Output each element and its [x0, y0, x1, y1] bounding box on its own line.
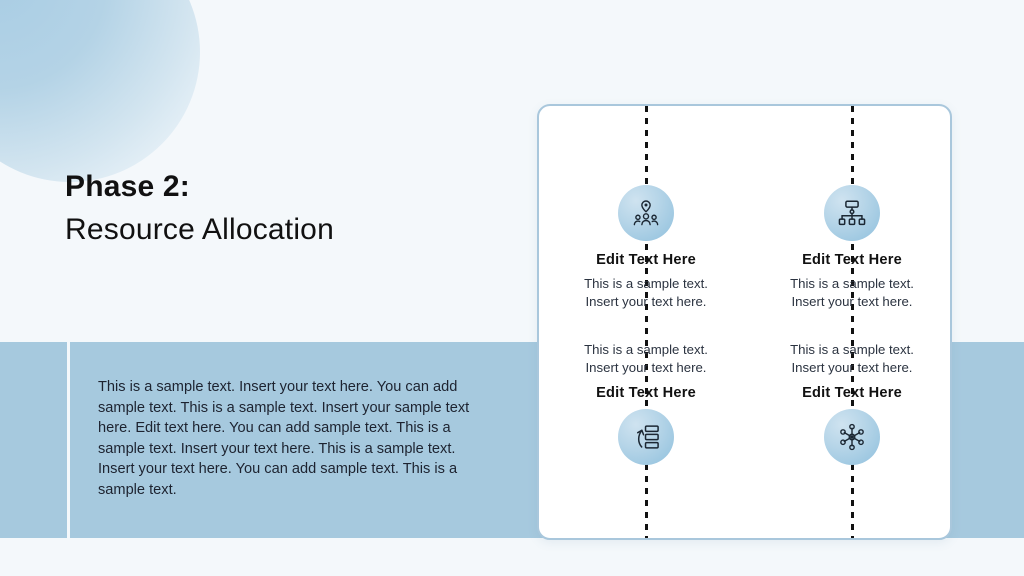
org-chart-icon — [837, 198, 867, 228]
item-description: This is a sample text. Insert your text … — [546, 275, 746, 312]
connector-line-top-left — [645, 106, 648, 190]
title-line-primary: Phase 2: — [65, 168, 495, 205]
item-description-line2: Insert your text here. — [752, 359, 952, 377]
icon-bubble-bottom-right[interactable] — [824, 409, 880, 465]
slide-canvas: Phase 2: Resource Allocation This is a s… — [0, 0, 1024, 576]
item-text-top-right: Edit Text Here This is a sample text. In… — [752, 252, 952, 312]
band-divider — [67, 342, 70, 538]
item-description-line1: This is a sample text. — [752, 341, 952, 359]
body-paragraph: This is a sample text. Insert your text … — [98, 377, 488, 501]
item-text-top-left: Edit Text Here This is a sample text. In… — [546, 252, 746, 312]
connector-line-bottom-right — [851, 464, 854, 540]
item-text-bottom-left: This is a sample text. Insert your text … — [546, 341, 746, 401]
icon-bubble-bottom-left[interactable] — [618, 409, 674, 465]
item-title: Edit Text Here — [546, 252, 746, 268]
item-description-line2: Insert your text here. — [752, 293, 952, 311]
list-arrow-icon — [631, 422, 661, 452]
item-title: Edit Text Here — [752, 385, 952, 401]
item-description-line2: Insert your text here. — [546, 359, 746, 377]
icon-bubble-top-right[interactable] — [824, 185, 880, 241]
connector-line-top-right — [851, 106, 854, 190]
title-line-secondary: Resource Allocation — [65, 211, 495, 248]
item-description-line1: This is a sample text. — [752, 275, 952, 293]
item-description-line1: This is a sample text. — [546, 275, 746, 293]
item-description: This is a sample text. Insert your text … — [752, 341, 952, 378]
item-title: Edit Text Here — [752, 252, 952, 268]
item-title: Edit Text Here — [546, 385, 746, 401]
team-location-icon — [631, 198, 661, 228]
decorative-circle — [0, 0, 200, 182]
network-hub-icon — [837, 422, 867, 452]
connector-line-bottom-left — [645, 464, 648, 540]
content-panel: Edit Text Here This is a sample text. In… — [537, 104, 952, 540]
item-description: This is a sample text. Insert your text … — [752, 275, 952, 312]
item-text-bottom-right: This is a sample text. Insert your text … — [752, 341, 952, 401]
icon-bubble-top-left[interactable] — [618, 185, 674, 241]
item-description-line1: This is a sample text. — [546, 341, 746, 359]
page-title: Phase 2: Resource Allocation — [65, 168, 495, 248]
item-description: This is a sample text. Insert your text … — [546, 341, 746, 378]
item-description-line2: Insert your text here. — [546, 293, 746, 311]
